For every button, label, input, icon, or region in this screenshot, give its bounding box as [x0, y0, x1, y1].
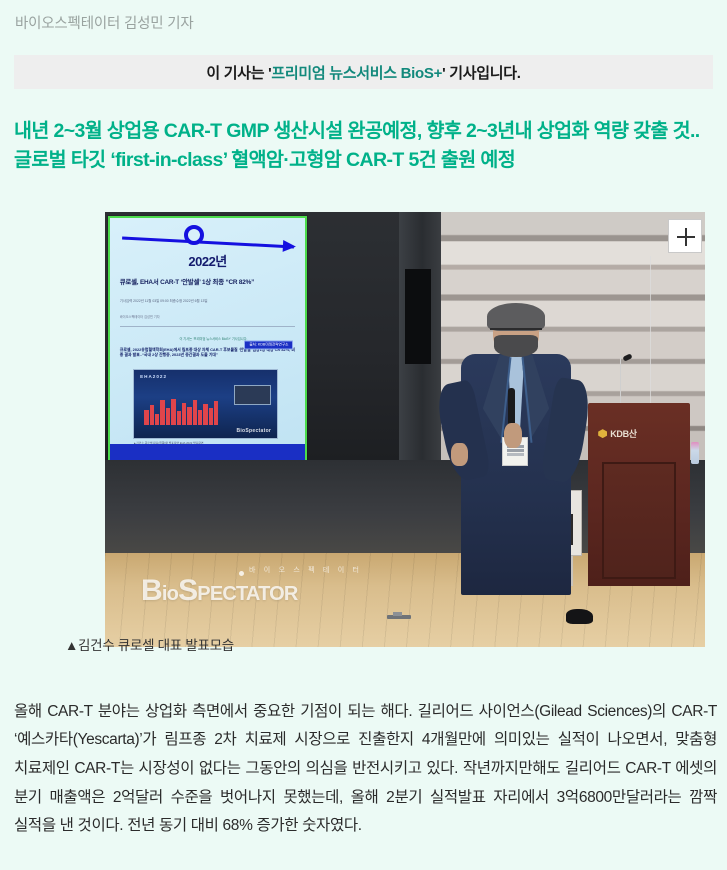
water-bottle [691, 442, 699, 464]
slide-embedded-video-panel [234, 385, 271, 406]
lectern-panel [602, 462, 675, 579]
kdb-logo-icon [598, 429, 607, 438]
microphone-stand [620, 356, 621, 408]
photo-watermark: BioSPECTATOR [141, 576, 298, 606]
article-photo[interactable]: 2022년 큐로셀, EHA서 CAR-T ‘안발셀’ 1상 최종 “CR 82… [105, 212, 705, 647]
premium-service-banner: 이 기사는 '프리미엄 뉴스서비스 BioS+' 기사입니다. [14, 55, 713, 89]
slide-article-meta: 기사입력 2022년 11월 03일 09:00 최종수정 2022년 6월 1… [120, 298, 296, 303]
figure-caption: ▲김건수 큐로셀 대표 발표모습 [65, 634, 234, 654]
slide-divider [120, 326, 296, 327]
premium-banner-suffix: ' 기사입니다. [442, 62, 521, 83]
watermark-s: S [178, 574, 197, 607]
speaker-face-mask [494, 335, 538, 357]
speaker-hair [487, 303, 545, 330]
article-body-paragraph: 올해 CAR-T 분야는 상업화 측면에서 중요한 기점이 되는 해다. 길리어… [14, 698, 717, 841]
watermark-dot-icon [239, 571, 244, 576]
article-page: 바이오스펙테이터 김성민 기자 이 기사는 '프리미엄 뉴스서비스 BioS+'… [0, 0, 727, 870]
speaker-glasses-icon [490, 328, 542, 330]
watermark-b: B [141, 574, 162, 607]
projection-screen: 2022년 큐로셀, EHA서 CAR-T ‘안발셀’ 1상 최종 “CR 82… [108, 216, 307, 473]
lectern: KDB산 [588, 403, 690, 586]
premium-banner-accent: 프리미엄 뉴스서비스 BioS+ [271, 62, 442, 83]
article-figure: 2022년 큐로셀, EHA서 CAR-T ‘안발셀’ 1상 최종 “CR 82… [105, 212, 705, 647]
article-headline: 내년 2~3월 상업용 CAR-T GMP 생산시설 완공예정, 향후 2~3년… [14, 117, 719, 175]
watermark-io: io [162, 583, 178, 605]
image-zoom-button[interactable] [668, 219, 702, 253]
slide-embedded-photo: EHA2022 BioSpectator [133, 369, 277, 440]
speaker-hand-left [451, 443, 468, 466]
stage-floor-marker [387, 615, 411, 619]
lectern-logo: KDB산 [598, 427, 637, 440]
lectern-logo-text: KDB산 [610, 427, 637, 440]
speaker-figure [447, 308, 585, 595]
slide-timeline-marker-icon [184, 225, 204, 245]
slide-timeline-arrow-icon [122, 237, 294, 249]
premium-banner-prefix: 이 기사는 ' [206, 62, 271, 83]
slide-source-tag: 출처: KDB미래전략연구소 [244, 340, 293, 349]
slide-article-title: 큐로셀, EHA서 CAR-T ‘안발셀’ 1상 최종 “CR 82%” [120, 279, 296, 287]
photo-watermark-korean: 바 이 오 스 펙 테 이 터 [249, 565, 362, 575]
slide-embedded-chart [144, 397, 218, 424]
watermark-pectator: PECTATOR [197, 583, 297, 605]
slide-article-byline: 바이오스펙테이터 김성민 기자 [120, 314, 296, 319]
slide-embedded-watermark: BioSpectator [236, 428, 271, 434]
slide-year-label: 2022년 [110, 251, 305, 270]
slide-embedded-photo-header: EHA2022 [140, 374, 167, 379]
speaker-hand-right [504, 423, 522, 449]
speaker-shoe [566, 609, 594, 623]
slide-surface: 2022년 큐로셀, EHA서 CAR-T ‘안발셀’ 1상 최종 “CR 82… [110, 218, 305, 471]
article-byline: 바이오스펙테이터 김성민 기자 [15, 12, 193, 33]
venue-pillar-panel [405, 269, 431, 365]
